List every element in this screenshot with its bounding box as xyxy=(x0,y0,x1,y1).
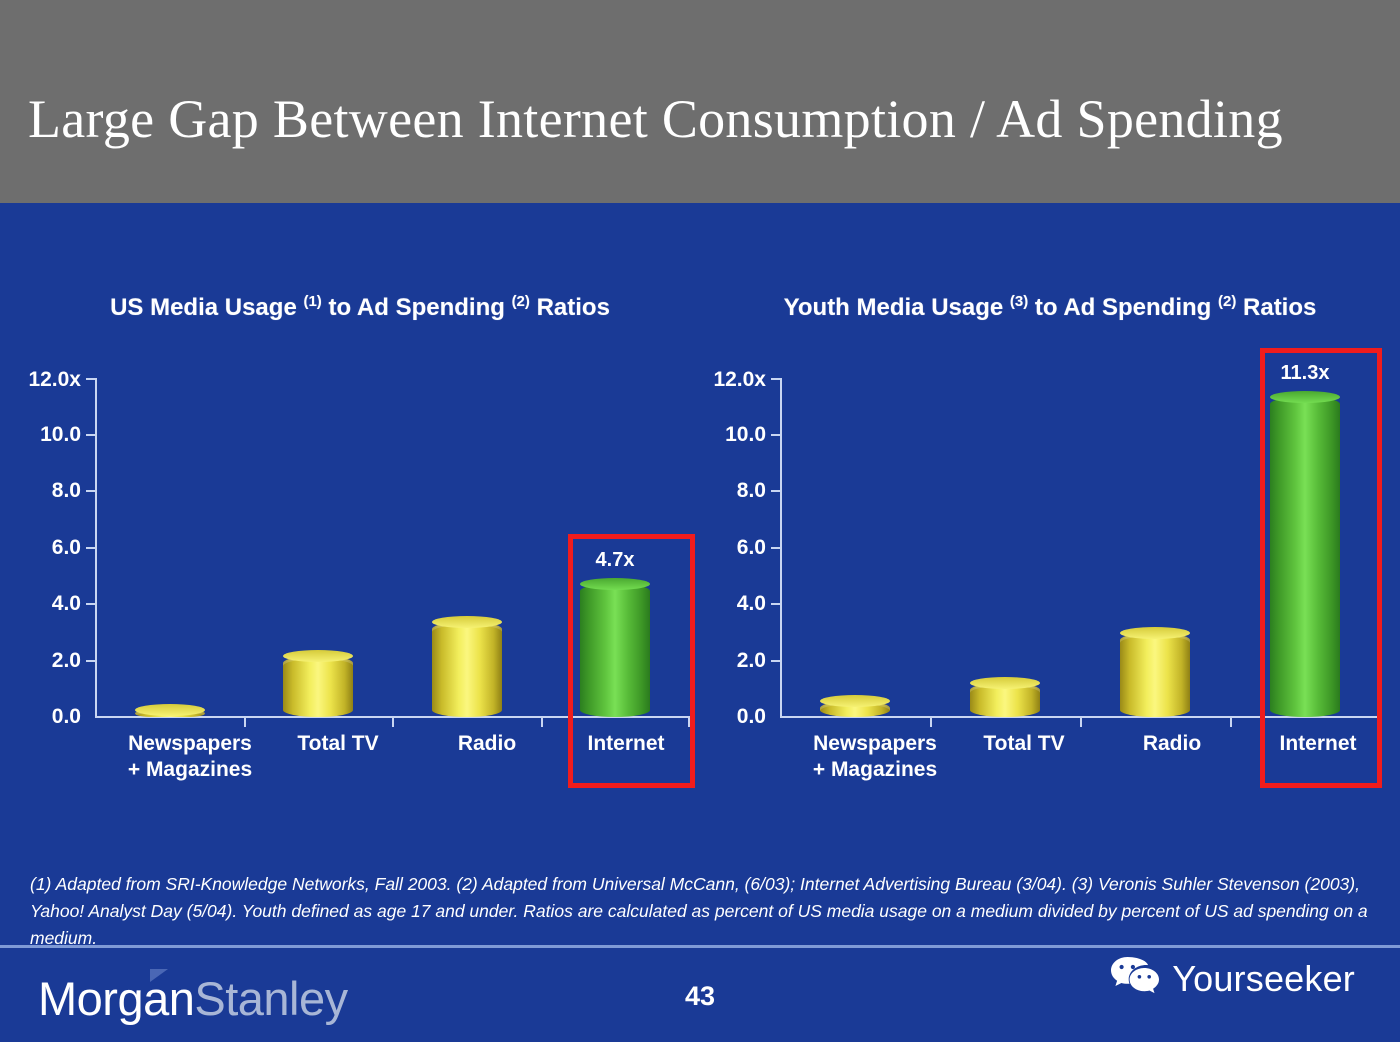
x-axis-tick xyxy=(541,718,543,727)
category-line: Radio xyxy=(458,731,516,757)
y-axis-label: 0.0 xyxy=(52,705,81,729)
category-line: + Magazines xyxy=(813,757,937,783)
wechat-icon xyxy=(1110,955,1160,1002)
y-axis-tick xyxy=(771,660,780,662)
y-axis-tick xyxy=(771,434,780,436)
bar-cap xyxy=(283,650,353,662)
chart-title-youth-media-usage: Youth Media Usage (3) to Ad Spending (2)… xyxy=(700,291,1400,325)
x-axis-tick xyxy=(1080,718,1082,727)
y-axis-label: 0.0 xyxy=(737,705,766,729)
bar-newspapers-magazines xyxy=(135,710,205,717)
y-axis-tick xyxy=(771,547,780,549)
bar-cap xyxy=(580,578,650,590)
chart-title-segment: Youth Media Usage xyxy=(784,294,1010,321)
bar-radio xyxy=(432,622,502,717)
footnote-ref-2: (2) xyxy=(512,293,530,310)
chart-title-segment: Ratios xyxy=(530,294,610,321)
y-axis-label: 2.0 xyxy=(52,649,81,673)
y-axis-tick xyxy=(86,547,95,549)
y-axis-tick xyxy=(86,660,95,662)
bar-internet xyxy=(580,584,650,717)
bar-total-tv xyxy=(970,683,1040,717)
bar-cap xyxy=(1120,627,1190,639)
y-axis-label: 8.0 xyxy=(52,479,81,503)
x-axis-category-newspapers-magazines: Newspapers + Magazines xyxy=(128,731,252,784)
bar-cap xyxy=(135,704,205,716)
x-axis-tick xyxy=(688,718,690,727)
y-axis-label: 10.0 xyxy=(725,423,766,447)
bar-cap xyxy=(432,616,502,628)
y-axis-tick xyxy=(771,490,780,492)
chart-title-us-media-usage: US Media Usage (1) to Ad Spending (2) Ra… xyxy=(0,291,720,325)
slide-body: US Media Usage (1) to Ad Spending (2) Ra… xyxy=(0,203,1400,1042)
x-axis-tick xyxy=(392,718,394,727)
y-axis-tick xyxy=(771,378,780,380)
y-axis-tick xyxy=(86,434,95,436)
page-title: Large Gap Between Internet Consumption /… xyxy=(28,88,1378,150)
y-axis-line xyxy=(780,378,782,718)
bar-value-internet: 11.3x xyxy=(1281,362,1330,385)
y-axis-tick xyxy=(86,490,95,492)
x-axis-category-newspapers-magazines: Newspapers + Magazines xyxy=(813,731,937,784)
footnote-ref-2: (2) xyxy=(1218,293,1236,310)
x-axis-category-total-tv: Total TV xyxy=(297,731,378,757)
bar-radio xyxy=(1120,633,1190,717)
footnote-ref-3: (3) xyxy=(1010,293,1028,310)
category-line: Newspapers xyxy=(813,731,937,757)
plot-area-youth-media-usage: 12.0x 10.0 8.0 6.0 4.0 2.0 0.0 xyxy=(780,378,1380,718)
watermark: Yourseeker xyxy=(1110,955,1355,1002)
category-line: + Magazines xyxy=(128,757,252,783)
x-axis-tick xyxy=(1378,718,1380,727)
x-axis-category-internet: Internet xyxy=(587,731,664,757)
bar-internet xyxy=(1270,397,1340,717)
y-axis-line xyxy=(95,378,97,718)
y-axis-label: 6.0 xyxy=(737,536,766,560)
chart-title-segment: Ratios xyxy=(1236,294,1316,321)
y-axis-label: 2.0 xyxy=(737,649,766,673)
category-line: Internet xyxy=(1279,731,1356,757)
chart-panel-youth-media-usage: Youth Media Usage (3) to Ad Spending (2)… xyxy=(700,203,1400,823)
y-axis-tick xyxy=(86,378,95,380)
plot-area-us-media-usage: 12.0x 10.0 8.0 6.0 4.0 2.0 0.0 xyxy=(95,378,690,718)
x-axis-category-radio: Radio xyxy=(458,731,516,757)
x-axis-tick xyxy=(244,718,246,727)
category-line: Newspapers xyxy=(128,731,252,757)
bar-cap xyxy=(970,677,1040,689)
bar-value-internet: 4.7x xyxy=(596,549,635,572)
chart-title-segment: US Media Usage xyxy=(110,294,303,321)
slide-root: Large Gap Between Internet Consumption /… xyxy=(0,0,1400,1042)
y-axis-label: 10.0 xyxy=(40,423,81,447)
chart-title-segment: to Ad Spending xyxy=(322,294,512,321)
y-axis-label: 8.0 xyxy=(737,479,766,503)
category-line: Total TV xyxy=(983,731,1064,757)
category-line: Internet xyxy=(587,731,664,757)
footnote-ref-1: (1) xyxy=(303,293,321,310)
y-axis-tick xyxy=(771,603,780,605)
bar-total-tv xyxy=(283,656,353,717)
x-axis-category-radio: Radio xyxy=(1143,731,1201,757)
chart-panel-us-media-usage: US Media Usage (1) to Ad Spending (2) Ra… xyxy=(0,203,720,823)
y-axis-label: 4.0 xyxy=(52,592,81,616)
chart-title-segment: to Ad Spending xyxy=(1028,294,1218,321)
bar-cap xyxy=(820,695,890,707)
x-axis-category-total-tv: Total TV xyxy=(983,731,1064,757)
x-axis-tick xyxy=(1230,718,1232,727)
x-axis-tick xyxy=(930,718,932,727)
y-axis-label: 12.0x xyxy=(713,368,766,392)
y-axis-label: 6.0 xyxy=(52,536,81,560)
footer-divider xyxy=(0,945,1400,948)
bar-newspapers-magazines xyxy=(820,701,890,717)
category-line: Total TV xyxy=(297,731,378,757)
x-axis-category-internet: Internet xyxy=(1279,731,1356,757)
watermark-text: Yourseeker xyxy=(1172,958,1355,1000)
y-axis-label: 12.0x xyxy=(28,368,81,392)
category-line: Radio xyxy=(1143,731,1201,757)
footnote-text: (1) Adapted from SRI-Knowledge Networks,… xyxy=(30,871,1375,952)
bar-cap xyxy=(1270,391,1340,403)
y-axis-tick xyxy=(86,603,95,605)
y-axis-label: 4.0 xyxy=(737,592,766,616)
